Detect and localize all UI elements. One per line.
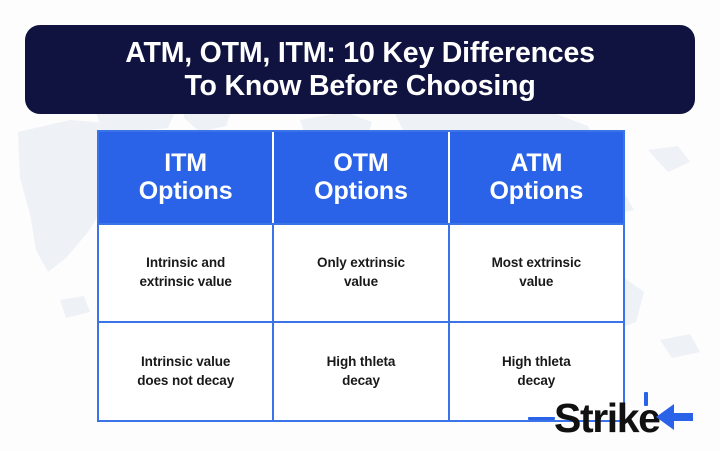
table-cell: High thleta decay [272, 323, 447, 420]
column-header-label: ITM Options [139, 149, 233, 205]
table-cell: Intrinsic value does not decay [99, 323, 272, 420]
infographic-canvas: ATM, OTM, ITM: 10 Key Differences To Kno… [0, 0, 720, 451]
table-header-cell-itm: ITM Options [99, 132, 272, 223]
logo-wordmark: Strike [554, 394, 660, 442]
strike-logo: Strike [528, 392, 708, 444]
table-cell-label: Only extrinsic value [317, 254, 405, 291]
table-row: Intrinsic and extrinsic value Only extri… [99, 223, 623, 322]
table-cell-label: High thleta decay [502, 353, 571, 390]
left-arrow-stem-icon [671, 413, 693, 421]
table-cell: Most extrinsic value [448, 225, 623, 322]
column-header-label: OTM Options [314, 149, 408, 205]
table-cell-label: Intrinsic and extrinsic value [140, 254, 232, 291]
column-header-label: ATM Options [489, 149, 583, 205]
title-banner: ATM, OTM, ITM: 10 Key Differences To Kno… [25, 25, 695, 114]
table-cell: Intrinsic and extrinsic value [99, 225, 272, 322]
table-cell-label: Intrinsic value does not decay [137, 353, 234, 390]
table-cell: Only extrinsic value [272, 225, 447, 322]
table-cell-label: High thleta decay [327, 353, 396, 390]
dash-icon [528, 417, 555, 420]
table-header-cell-otm: OTM Options [272, 132, 447, 223]
comparison-table: ITM Options OTM Options ATM Options Intr… [97, 130, 625, 422]
table-cell-label: Most extrinsic value [492, 254, 581, 291]
table-header-cell-atm: ATM Options [448, 132, 623, 223]
table-header-row: ITM Options OTM Options ATM Options [99, 132, 623, 223]
page-title: ATM, OTM, ITM: 10 Key Differences To Kno… [125, 37, 595, 102]
